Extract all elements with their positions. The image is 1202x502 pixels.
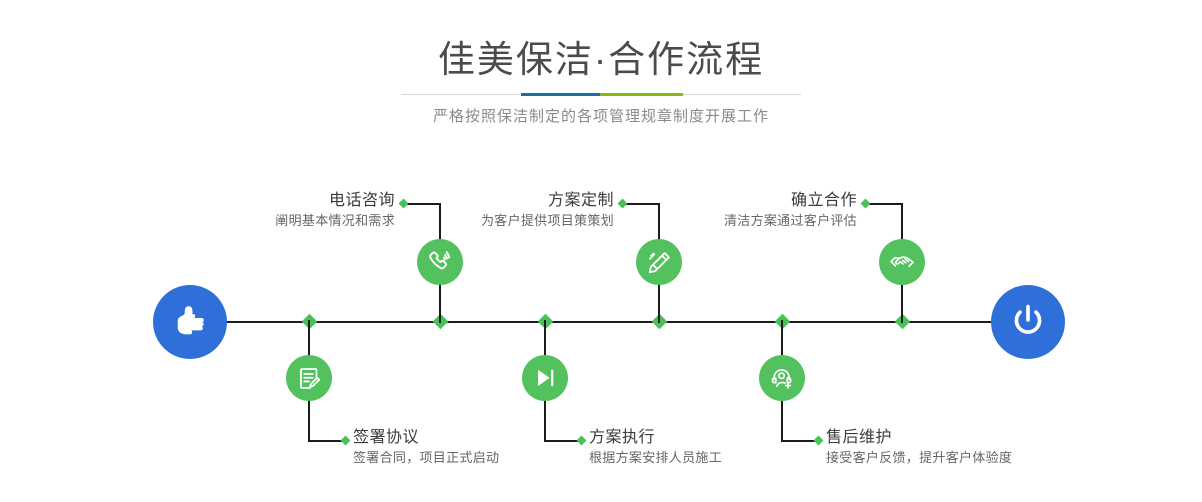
step-icon-badge xyxy=(759,355,805,401)
step-icon-badge xyxy=(879,239,925,285)
flowchart-canvas: 佳美保洁·合作流程 严格按照保洁制定的各项管理规章制度开展工作 xyxy=(0,0,1202,502)
power-icon xyxy=(1007,301,1049,343)
label-marker xyxy=(861,199,871,209)
step-desc: 为客户提供项目策策划 xyxy=(340,211,614,231)
step-label: 确立合作 清洁方案通过客户评估 xyxy=(583,190,857,231)
pointing-hand-icon xyxy=(169,301,211,343)
divider-segment-blue xyxy=(521,93,600,96)
step-lead-line xyxy=(866,203,902,205)
handshake-icon xyxy=(888,248,916,276)
step-icon-badge xyxy=(286,355,332,401)
page-title: 佳美保洁·合作流程 xyxy=(0,38,1202,82)
title-divider xyxy=(401,93,801,96)
step-lead-line xyxy=(544,440,580,442)
play-execute-icon xyxy=(532,365,558,391)
page-subtitle: 严格按照保洁制定的各项管理规章制度开展工作 xyxy=(0,106,1202,128)
timeline-start-endpoint xyxy=(153,285,227,359)
step-icon-badge xyxy=(417,239,463,285)
customer-service-add-icon xyxy=(769,365,796,392)
phone-call-icon xyxy=(426,248,454,276)
step-desc: 接受客户反馈，提升客户体验度 xyxy=(826,448,1156,468)
step-label: 售后维护 接受客户反馈，提升客户体验度 xyxy=(826,427,1156,468)
step-lead-line xyxy=(308,440,344,442)
step-title: 售后维护 xyxy=(826,427,1156,448)
step-lead-line xyxy=(781,440,817,442)
timeline-end-endpoint xyxy=(991,285,1065,359)
step-title: 确立合作 xyxy=(583,190,857,211)
step-title: 方案定制 xyxy=(340,190,614,211)
contract-document-icon xyxy=(296,365,323,392)
step-label: 方案定制 为客户提供项目策策划 xyxy=(340,190,614,231)
step-desc: 清洁方案通过客户评估 xyxy=(583,211,857,231)
label-marker xyxy=(341,436,351,446)
step-icon-badge xyxy=(522,355,568,401)
step-icon-badge xyxy=(636,239,682,285)
divider-segment-green xyxy=(600,93,683,96)
pencil-edit-icon xyxy=(646,249,673,276)
